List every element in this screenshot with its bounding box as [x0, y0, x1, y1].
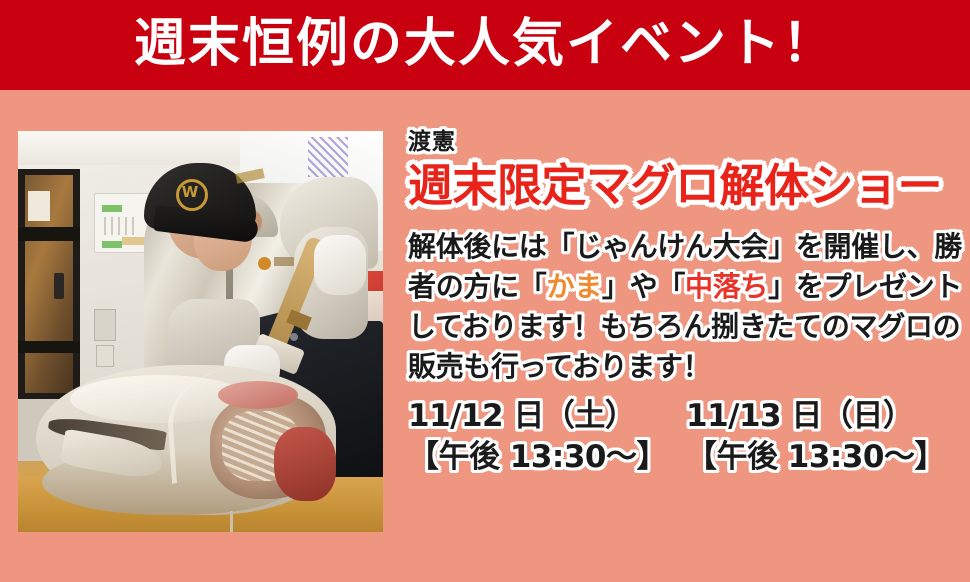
header-band: 週末恒例の大人気イベント！: [0, 0, 970, 90]
date-block-saturday: 11/12 日（土） 【午後 13:30〜】: [408, 396, 686, 478]
description-highlight-kama: かま: [547, 270, 602, 303]
date-saturday-day: 11/12 日（土）: [408, 396, 686, 437]
photo-control-slots: [104, 217, 134, 235]
photo-control-led-bottom: [102, 241, 122, 248]
photo-cap-emblem-letter: W: [181, 183, 199, 201]
photo-door-handle: [54, 273, 64, 299]
header-title: 週末恒例の大人気イベント！: [134, 18, 836, 70]
date-saturday-time: 【午後 13:30〜】: [408, 437, 686, 478]
promo-banner: 週末恒例の大人気イベント！: [0, 0, 970, 582]
description-part-2: 」や「: [602, 270, 685, 303]
date-sunday-time: 【午後 13:30〜】: [686, 437, 945, 478]
photo-door-paper: [28, 191, 50, 221]
photo-wall-switch-upper: [94, 309, 116, 341]
photo-chest-logo-mark: [258, 257, 271, 270]
photo-right-glove: [314, 235, 366, 295]
event-dates: 11/12 日（土） 【午後 13:30〜】 11/13 日（日） 【午後 13…: [408, 396, 963, 478]
photo-wall-switch-lower: [96, 345, 114, 367]
photo-door-bar-upper: [18, 227, 80, 241]
photo-door-bar-lower: [18, 341, 80, 353]
photo-plastic-blue-mark: [308, 137, 348, 177]
date-block-sunday: 11/13 日（日） 【午後 13:30〜】: [686, 396, 945, 478]
photo-control-led-top: [102, 205, 122, 212]
tuna-cutting-photo: W: [18, 131, 383, 532]
shop-name: 渡憲: [408, 131, 963, 154]
description-highlight-nakaochi: 中落ち: [685, 270, 768, 303]
photo-apron-snap: [290, 333, 298, 341]
event-title: 週末限定マグロ解体ショー: [408, 162, 963, 209]
date-sunday-day: 11/13 日（日）: [686, 396, 945, 437]
event-description: 解体後には「じゃんけん大会」を開催し、勝者の方に「かま」や「中落ち」をプレゼント…: [408, 227, 963, 386]
text-column: 渡憲 週末限定マグロ解体ショー 解体後には「じゃんけん大会」を開催し、勝者の方に…: [408, 131, 963, 541]
photo-drip: [230, 511, 233, 532]
